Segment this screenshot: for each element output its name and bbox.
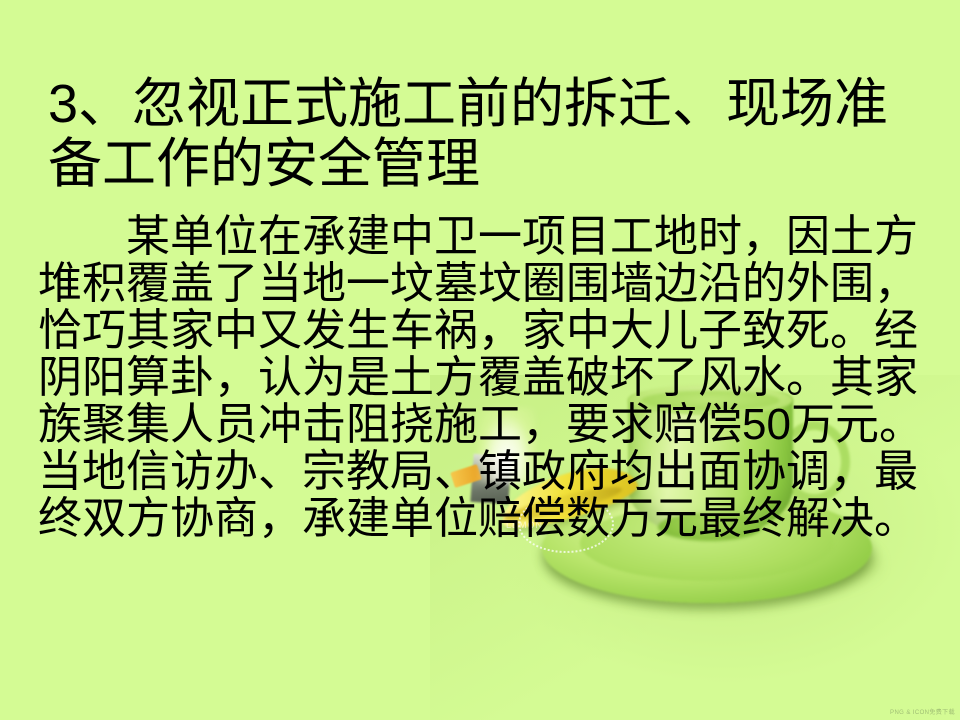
slide-title: 3、忽视正式施工前的拆迁、现场准备工作的安全管理 xyxy=(48,74,928,194)
corner-watermark: PNG & ICON免费下载 xyxy=(890,707,955,716)
slide-body-text: 某单位在承建中卫一项目工地时，因土方堆积覆盖了当地一坟墓坟圈围墙边沿的外围，恰巧… xyxy=(38,213,930,542)
presentation-slide: LEMON 3、忽视正式施工前的拆迁、现场准备工作的安全管理 某单位在承建中卫一… xyxy=(0,0,960,720)
